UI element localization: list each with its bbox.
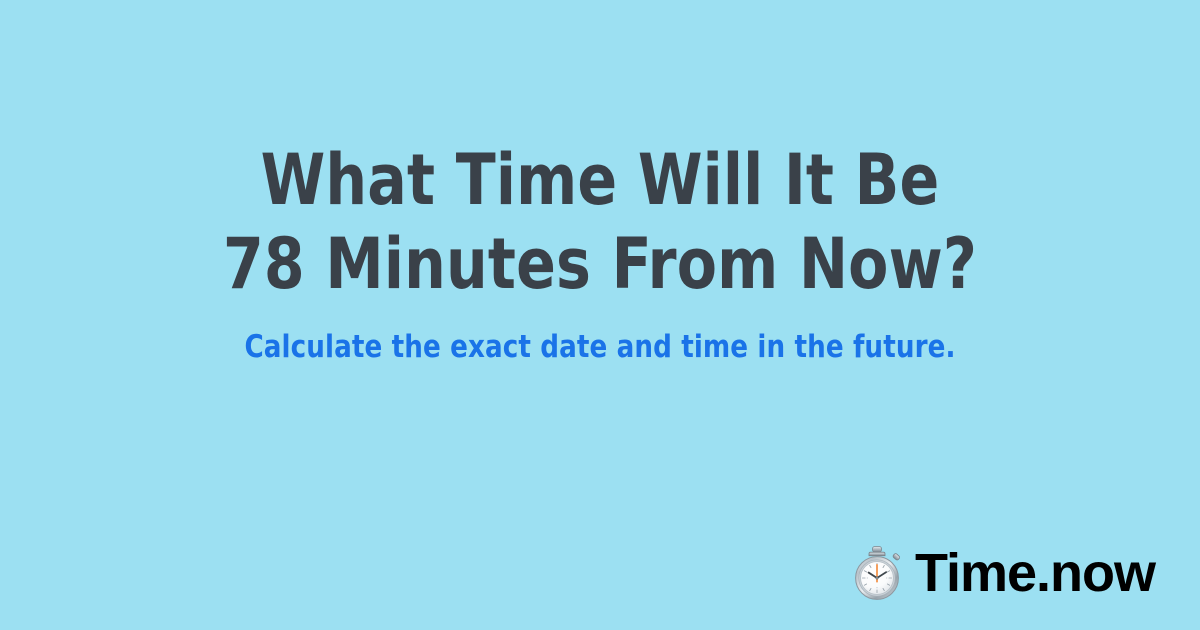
hero-section: What Time Will It Be 78 Minutes From Now… bbox=[0, 0, 1200, 366]
stopwatch-icon bbox=[850, 545, 904, 601]
page-subtitle: Calculate the exact date and time in the… bbox=[36, 328, 1164, 366]
brand-name: Time.now bbox=[915, 545, 1155, 601]
brand-logo[interactable]: Time.now bbox=[850, 544, 1155, 602]
og-card: What Time Will It Be 78 Minutes From Now… bbox=[0, 0, 1200, 630]
page-title: What Time Will It Be 78 Minutes From Now… bbox=[42, 138, 1158, 306]
page-title-line-1: What Time Will It Be bbox=[42, 138, 1158, 222]
page-title-line-2: 78 Minutes From Now? bbox=[42, 222, 1158, 306]
